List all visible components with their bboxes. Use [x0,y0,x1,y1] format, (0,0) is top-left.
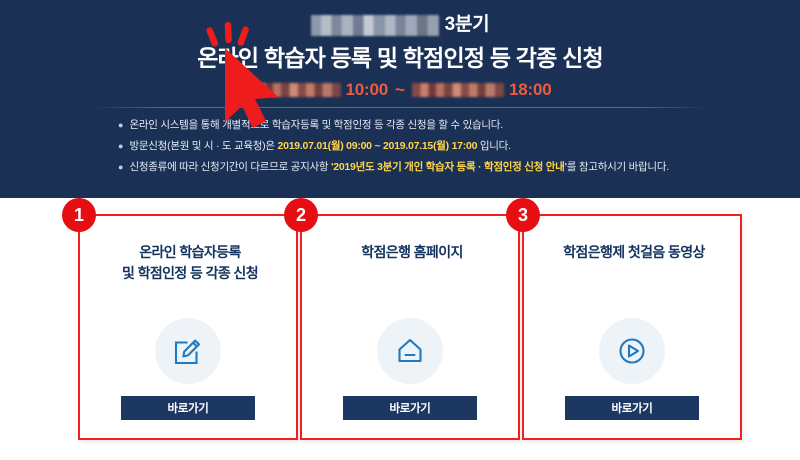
redacted-org-name [311,15,439,36]
card-3-badge: 3 [506,198,540,232]
header-title-line-1: 3분기 [0,10,800,40]
card-1-go-button[interactable]: 바로가기 [121,396,255,420]
card-1-title-line-2: 및 학점인정 등 각종 신청 [90,263,290,284]
card-2-badge: 2 [284,198,318,232]
card-2-icon-circle [377,318,443,384]
card-3[interactable]: 학점은행제 첫걸음 동영상 바로가기 3 [522,214,744,442]
bullet-plain: 를 참고하시기 바랍니다. [567,161,669,173]
header-inner: 3분기 온라인 학습자 등록 및 학점인정 등 각종 신청 10:00 ~ 18… [0,0,800,198]
card-1[interactable]: 온라인 학습자등록 및 학점인정 등 각종 신청 바로가기 1 [78,214,300,442]
card-2-title-line-1: 학점은행 홈페이지 [312,242,512,263]
play-circle-icon [615,334,649,368]
header-bullet-list: ● 온라인 시스템을 통해 개별적으로 학습자등록 및 학점인정 등 각종 신청… [118,118,718,181]
card-2-frame[interactable]: 학점은행 홈페이지 바로가기 [300,214,520,440]
card-1-title-line-1: 온라인 학습자등록 [90,242,290,263]
card-3-go-button[interactable]: 바로가기 [565,396,699,420]
card-3-frame[interactable]: 학점은행제 첫걸음 동영상 바로가기 [522,214,742,440]
redacted-start-date [249,83,341,97]
card-3-title: 학점은행제 첫걸음 동영상 [534,242,734,263]
home-icon [393,334,427,368]
card-1-title: 온라인 학습자등록 및 학점인정 등 각종 신청 [90,242,290,284]
card-2-title: 학점은행 홈페이지 [312,242,512,263]
bullet-text: 온라인 시스템을 통해 개별적으로 학습자등록 및 학점인정 등 각종 신청을 … [129,118,502,133]
redacted-end-date [412,83,504,97]
header-time-line: 10:00 ~ 18:00 [0,79,800,101]
bullet-highlight: '2019년도 3분기 개인 학습자 등록 · 학점인정 신청 안내' [331,161,567,173]
edit-pencil-icon [171,334,205,368]
bullet-highlight: 2019.07.01(월) 09:00 ~ 2019.07.15(월) 17:0… [278,140,478,152]
bullet-plain: 방문신청(본원 및 시 · 도 교육청)은 [129,140,277,152]
bullet-dot-icon: ● [118,118,123,133]
card-1-badge: 1 [62,198,96,232]
page-root: 3분기 온라인 학습자 등록 및 학점인정 등 각종 신청 10:00 ~ 18… [0,0,800,460]
cards-row: 온라인 학습자등록 및 학점인정 등 각종 신청 바로가기 1 [0,198,800,460]
bullet-text: 신청종류에 따라 신청기간이 다르므로 공지사항 '2019년도 3분기 개인 … [129,160,668,175]
header-quarter-label: 3분기 [445,12,490,38]
bullet-item: ● 온라인 시스템을 통해 개별적으로 학습자등록 및 학점인정 등 각종 신청… [118,118,718,133]
bullet-plain: 신청종류에 따라 신청기간이 다르므로 공지사항 [129,161,331,173]
time-separator: ~ [393,80,407,100]
card-2[interactable]: 학점은행 홈페이지 바로가기 2 [300,214,522,442]
card-3-title-line-1: 학점은행제 첫걸음 동영상 [534,242,734,263]
bullet-item: ● 방문신청(본원 및 시 · 도 교육청)은 2019.07.01(월) 09… [118,139,718,154]
bullet-plain: 온라인 시스템을 통해 개별적으로 학습자등록 및 학점인정 등 각종 신청을 … [129,119,502,131]
header-title-block: 3분기 온라인 학습자 등록 및 학점인정 등 각종 신청 10:00 ~ 18… [0,10,800,101]
bullet-dot-icon: ● [118,160,123,175]
header-main-title: 온라인 학습자 등록 및 학점인정 등 각종 신청 [0,43,800,73]
cards-section: 온라인 학습자등록 및 학점인정 등 각종 신청 바로가기 1 [0,198,800,460]
bullet-item: ● 신청종류에 따라 신청기간이 다르므로 공지사항 '2019년도 3분기 개… [118,160,718,175]
card-3-icon-circle [599,318,665,384]
bullet-text: 방문신청(본원 및 시 · 도 교육청)은 2019.07.01(월) 09:0… [129,139,510,154]
card-1-icon-circle [155,318,221,384]
time-end: 18:00 [509,80,551,100]
header-banner: 3분기 온라인 학습자 등록 및 학점인정 등 각종 신청 10:00 ~ 18… [0,0,800,198]
card-1-frame[interactable]: 온라인 학습자등록 및 학점인정 등 각종 신청 바로가기 [78,214,298,440]
bullet-plain: 입니다. [477,140,511,152]
card-2-go-button[interactable]: 바로가기 [343,396,477,420]
header-divider [90,107,710,108]
bullet-dot-icon: ● [118,139,123,154]
time-start: 10:00 [346,80,388,100]
